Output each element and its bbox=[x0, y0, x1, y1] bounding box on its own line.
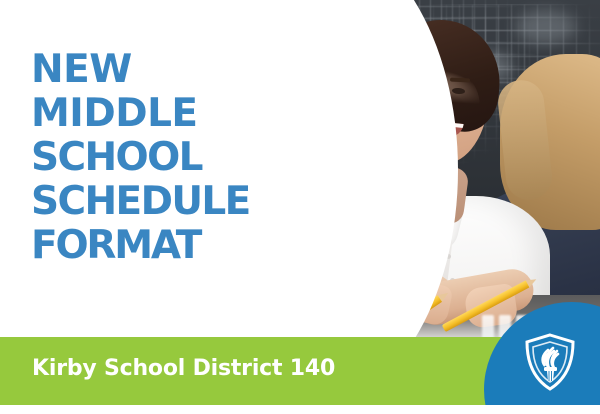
headline-line-4: SCHEDULE bbox=[31, 180, 293, 224]
shield-torch-logo-icon bbox=[524, 333, 576, 391]
promotional-banner: NEW MIDDLE SCHOOL SCHEDULE FORMAT Kirby … bbox=[0, 0, 600, 414]
headline-line-1: NEW bbox=[31, 48, 293, 92]
bottom-white-strip bbox=[0, 405, 600, 414]
page-title: NEW MIDDLE SCHOOL SCHEDULE FORMAT bbox=[31, 48, 293, 268]
headline-line-2: MIDDLE bbox=[31, 92, 293, 136]
district-name-label: Kirby School District 140 bbox=[32, 355, 335, 383]
chalk-smudge bbox=[516, 10, 576, 44]
headline-line-5: FORMAT bbox=[31, 224, 293, 268]
student-navy-shirt-hair bbox=[500, 54, 600, 230]
headline-line-3: SCHOOL bbox=[31, 136, 293, 180]
